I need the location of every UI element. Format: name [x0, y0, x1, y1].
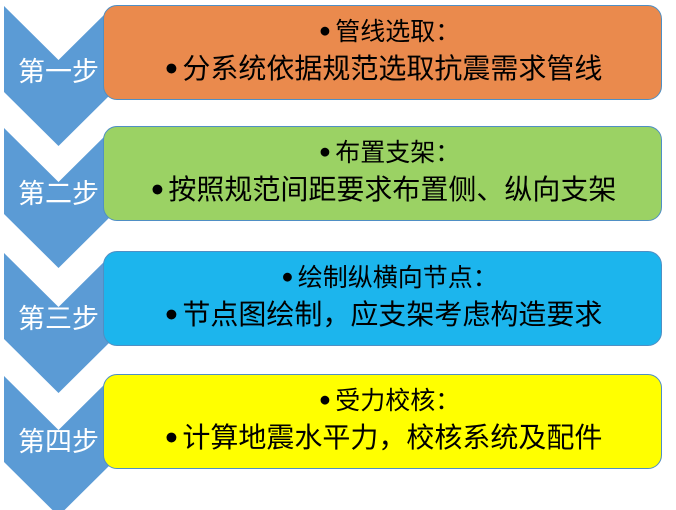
- step-4-body-line: ●计算地震水平力，校核系统及配件: [112, 418, 655, 458]
- step-4-title: 受力校核：: [335, 388, 460, 415]
- bullet-icon: ●: [319, 141, 335, 163]
- chevron-label-step-1: 第一步: [4, 57, 113, 87]
- bullet-icon: ●: [165, 301, 183, 326]
- bullet-icon: ●: [319, 20, 335, 42]
- step-3-title: 绘制纵横向节点：: [298, 265, 498, 292]
- chevron-label-step-4: 第四步: [4, 427, 113, 457]
- step-1-body-line: ●分系统依据规范选取抗震需求管线: [112, 49, 655, 89]
- step-2-body: 按照规范间距要求布置侧、纵向支架: [168, 176, 616, 207]
- step-1-title: 管线选取：: [335, 19, 460, 46]
- diagram-canvas: 第一步 ●管线选取： ●分系统依据规范选取抗震需求管线 第二步 ●布置支架： ●…: [0, 0, 676, 510]
- step-box-3[interactable]: ●绘制纵横向节点： ●节点图绘制，应支架考虑构造要求: [103, 251, 662, 346]
- step-3-body-line: ●节点图绘制，应支架考虑构造要求: [112, 295, 655, 335]
- step-3-body: 节点图绘制，应支架考虑构造要求: [182, 301, 602, 332]
- step-4-body: 计算地震水平力，校核系统及配件: [182, 424, 602, 455]
- step-3-title-line: ●绘制纵横向节点：: [112, 261, 655, 295]
- chevron-label-step-3: 第三步: [4, 304, 113, 334]
- bullet-icon: ●: [165, 424, 183, 449]
- chevron-step-4: 第四步: [4, 372, 113, 510]
- bullet-icon: ●: [319, 389, 335, 411]
- bullet-icon: ●: [281, 266, 297, 288]
- step-2-title-line: ●布置支架：: [112, 136, 655, 170]
- step-1-title-line: ●管线选取：: [112, 15, 655, 49]
- bullet-icon: ●: [165, 55, 183, 80]
- step-box-2[interactable]: ●布置支架： ●按照规范间距要求布置侧、纵向支架: [103, 126, 662, 221]
- step-1-body: 分系统依据规范选取抗震需求管线: [182, 55, 602, 86]
- step-box-4[interactable]: ●受力校核： ●计算地震水平力，校核系统及配件: [103, 374, 662, 469]
- step-2-title: 布置支架：: [335, 140, 460, 167]
- chevron-label-step-2: 第二步: [4, 179, 113, 209]
- step-4-title-line: ●受力校核：: [112, 384, 655, 418]
- step-2-body-line: ●按照规范间距要求布置侧、纵向支架: [112, 170, 655, 210]
- step-box-1[interactable]: ●管线选取： ●分系统依据规范选取抗震需求管线: [103, 5, 662, 100]
- bullet-icon: ●: [151, 176, 169, 201]
